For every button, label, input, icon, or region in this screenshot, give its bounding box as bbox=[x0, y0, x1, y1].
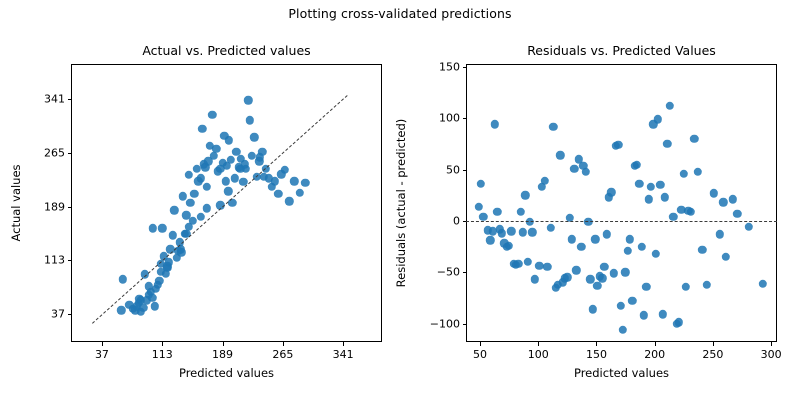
scatter-point bbox=[505, 241, 513, 249]
scatter-point bbox=[610, 269, 618, 277]
scatter-point bbox=[624, 246, 632, 254]
scatter-point bbox=[703, 280, 711, 288]
scatter-point bbox=[612, 142, 620, 150]
x-tick-mark bbox=[596, 342, 597, 346]
x-tick-mark bbox=[343, 342, 344, 346]
x-axis-label: Predicted values bbox=[574, 366, 669, 380]
scatter-point bbox=[665, 102, 673, 110]
scatter-point bbox=[512, 261, 520, 269]
scatter-point bbox=[719, 198, 727, 206]
scatter-point bbox=[596, 272, 604, 280]
scatter-point bbox=[535, 262, 543, 270]
scatter-point bbox=[635, 180, 643, 188]
x-tick-mark bbox=[713, 342, 714, 346]
y-tick-mark bbox=[68, 314, 72, 315]
scatter-point bbox=[614, 141, 622, 149]
scatter-point bbox=[631, 161, 639, 169]
scatter-point bbox=[698, 245, 706, 253]
scatter-point bbox=[488, 227, 496, 235]
scatter-point bbox=[651, 250, 659, 258]
x-tick-mark bbox=[283, 342, 284, 346]
x-tick-label: 341 bbox=[333, 348, 354, 361]
scatter-point bbox=[495, 225, 503, 233]
scatter-point bbox=[603, 230, 611, 238]
scatter-point bbox=[549, 122, 557, 130]
scatter-point bbox=[649, 120, 657, 128]
scatter-point bbox=[633, 160, 641, 168]
scatter-point bbox=[759, 279, 767, 287]
scatter-point bbox=[502, 242, 510, 250]
scatter-point bbox=[516, 207, 524, 215]
scatter-point bbox=[682, 282, 690, 290]
scatter-point bbox=[586, 275, 594, 283]
scatter-point bbox=[509, 260, 517, 268]
scatter-point bbox=[600, 263, 608, 271]
scatter-point bbox=[577, 242, 585, 250]
scatter-point bbox=[661, 193, 669, 201]
scatter-point bbox=[479, 213, 487, 221]
scatter-point bbox=[721, 253, 729, 261]
y-tick-mark bbox=[463, 118, 467, 119]
scatter-point bbox=[474, 202, 482, 210]
scatter-point bbox=[677, 205, 685, 213]
scatter-point bbox=[570, 164, 578, 172]
y-tick-mark bbox=[463, 170, 467, 171]
x-tick-label: 50 bbox=[473, 348, 487, 361]
scatter-point bbox=[617, 302, 625, 310]
scatter-point bbox=[572, 266, 580, 274]
scatter-point bbox=[484, 226, 492, 234]
y-axis-label: Actual values bbox=[9, 64, 23, 342]
x-tick-mark bbox=[102, 342, 103, 346]
scatter-point bbox=[582, 167, 590, 175]
y-axis-label: Residuals (actual - predicted) bbox=[394, 64, 408, 342]
x-tick-mark bbox=[223, 342, 224, 346]
scatter-point bbox=[547, 224, 555, 232]
scatter-point bbox=[605, 193, 613, 201]
y-tick-mark bbox=[463, 324, 467, 325]
axes-frame-right[interactable] bbox=[466, 64, 777, 342]
x-tick-label: 300 bbox=[761, 348, 782, 361]
scatter-point bbox=[551, 283, 559, 291]
scatter-point bbox=[526, 218, 534, 226]
scatter-point bbox=[561, 274, 569, 282]
scatter-point bbox=[568, 235, 576, 243]
x-tick-label: 265 bbox=[272, 348, 293, 361]
y-tick-mark bbox=[68, 99, 72, 100]
scatter-point bbox=[591, 235, 599, 243]
scatter-point bbox=[563, 273, 571, 281]
scatter-point bbox=[589, 305, 597, 313]
y-tick-mark bbox=[463, 272, 467, 273]
scatter-point bbox=[514, 260, 522, 268]
scatter-point bbox=[493, 207, 501, 215]
scatter-point bbox=[686, 207, 694, 215]
scatter-point bbox=[669, 213, 677, 221]
scatter-point bbox=[675, 318, 683, 326]
x-tick-mark bbox=[771, 342, 772, 346]
scatter-point bbox=[626, 235, 634, 243]
scatter-point bbox=[684, 206, 692, 214]
scatter-point bbox=[528, 228, 536, 236]
scatter-point bbox=[628, 297, 636, 305]
y-tick-mark bbox=[68, 207, 72, 208]
scatter-point bbox=[642, 282, 650, 290]
x-tick-label: 200 bbox=[644, 348, 665, 361]
x-tick-mark bbox=[480, 342, 481, 346]
reference-dashed-line bbox=[466, 221, 777, 222]
y-tick-mark bbox=[68, 153, 72, 154]
scatter-point bbox=[558, 278, 566, 286]
scatter-point bbox=[537, 183, 545, 191]
x-tick-label: 113 bbox=[152, 348, 173, 361]
x-tick-label: 189 bbox=[212, 348, 233, 361]
scatter-point bbox=[690, 135, 698, 143]
scatter-point bbox=[728, 195, 736, 203]
scatter-point bbox=[710, 189, 718, 197]
scatter-point bbox=[486, 236, 494, 244]
axes-title-right: Residuals vs. Predicted Values bbox=[466, 43, 777, 58]
x-tick-mark bbox=[655, 342, 656, 346]
scatter-point bbox=[500, 239, 508, 247]
x-tick-label: 100 bbox=[528, 348, 549, 361]
scatter-point bbox=[607, 188, 615, 196]
scatter-point bbox=[640, 311, 648, 319]
scatter-point bbox=[521, 191, 529, 199]
scatter-point bbox=[556, 151, 564, 159]
scatter-point bbox=[579, 161, 587, 169]
scatter-point bbox=[745, 223, 753, 231]
scatter-point bbox=[647, 183, 655, 191]
scatter-point bbox=[519, 228, 527, 236]
y-tick-mark bbox=[463, 67, 467, 68]
scatter-point bbox=[543, 263, 551, 271]
x-tick-label: 250 bbox=[702, 348, 723, 361]
scatter-point bbox=[507, 227, 515, 235]
scatter-point bbox=[672, 319, 680, 327]
scatter-point bbox=[541, 177, 549, 185]
scatter-point bbox=[658, 310, 666, 318]
scatter-point bbox=[584, 218, 592, 226]
scatter-point bbox=[593, 281, 601, 289]
scatter-point bbox=[663, 140, 671, 148]
x-axis-label: Predicted values bbox=[179, 366, 274, 380]
scatter-point bbox=[654, 115, 662, 123]
scatter-point bbox=[733, 210, 741, 218]
scatter-point bbox=[477, 180, 485, 188]
scatter-point bbox=[523, 258, 531, 266]
x-tick-mark bbox=[162, 342, 163, 346]
scatter-point bbox=[554, 280, 562, 288]
scatter-point bbox=[693, 167, 701, 175]
scatter-point bbox=[679, 170, 687, 178]
scatter-point bbox=[621, 268, 629, 276]
scatter-point bbox=[619, 325, 627, 333]
figure-canvas: Plotting cross-validated predictions Act… bbox=[0, 0, 800, 400]
scatter-point bbox=[530, 275, 538, 283]
scatter-point bbox=[645, 195, 653, 203]
y-tick-mark bbox=[68, 260, 72, 261]
scatter-point bbox=[716, 230, 724, 238]
scatter-point bbox=[498, 229, 506, 237]
x-tick-label: 150 bbox=[586, 348, 607, 361]
scatter-point bbox=[575, 155, 583, 163]
x-tick-mark bbox=[538, 342, 539, 346]
scatter-point bbox=[638, 242, 646, 250]
scatter-point bbox=[656, 181, 664, 189]
x-tick-label: 37 bbox=[95, 348, 109, 361]
scatter-point bbox=[491, 120, 499, 128]
scatter-point bbox=[598, 274, 606, 282]
